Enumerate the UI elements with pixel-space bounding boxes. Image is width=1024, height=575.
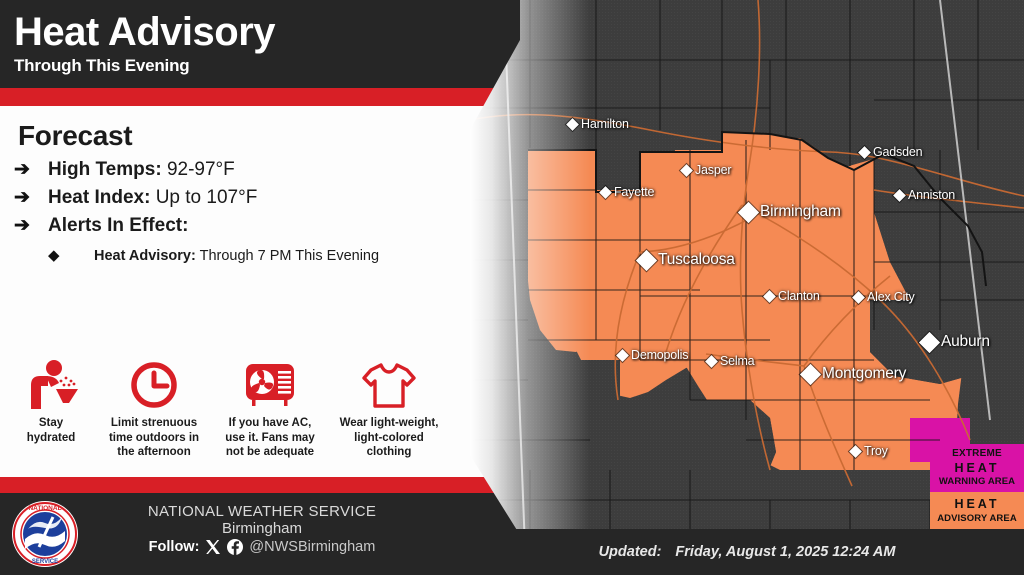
legend-line2: HEAT xyxy=(933,496,1021,512)
svg-text:SERVICE: SERVICE xyxy=(32,559,58,565)
arrow-icon: ➔ xyxy=(14,160,48,179)
legend-line3: ADVISORY AREA xyxy=(933,513,1021,524)
follow-label: Follow: xyxy=(149,539,200,555)
tip-caption: Limit strenuoustime outdoors inthe after… xyxy=(98,416,210,460)
forecast-value: Up to 107°F xyxy=(156,187,258,208)
twitter-x-icon[interactable] xyxy=(205,539,221,555)
facebook-icon[interactable] xyxy=(227,539,243,555)
weather-graphic: HamiltonJasperFayetteGadsdenAnnistonBirm… xyxy=(0,0,1024,575)
map-panel: HamiltonJasperFayetteGadsdenAnnistonBirm… xyxy=(470,0,1024,575)
legend-line3: WARNING AREA xyxy=(933,476,1021,487)
forecast-row-heat-index: ➔ Heat Index: Up to 107°F xyxy=(0,184,520,212)
alert-value: Through 7 PM This Evening xyxy=(200,248,379,264)
tip-stay-hydrated: Stayhydrated xyxy=(8,354,94,460)
forecast-value: 92-97°F xyxy=(167,159,235,180)
forecast-panel: Forecast ➔ High Temps: 92-97°F ➔ Heat In… xyxy=(0,106,520,477)
safety-tips: Stayhydrated Limit strenuoustime outdoor… xyxy=(0,354,500,460)
arrow-icon: ➔ xyxy=(14,216,48,235)
forecast-label: High Temps: xyxy=(48,159,162,180)
forecast-heading: Forecast xyxy=(0,106,520,156)
clock-icon xyxy=(98,354,210,416)
map-legend: EXTREME HEAT WARNING AREA HEAT ADVISORY … xyxy=(930,444,1024,529)
forecast-label: Heat Index: xyxy=(48,187,150,208)
agency-name: NATIONAL WEATHER SERVICE xyxy=(92,503,432,520)
footer-meta: NATIONAL WEATHER SERVICE Birmingham Foll… xyxy=(92,503,432,555)
tip-caption: Stayhydrated xyxy=(8,416,94,445)
tip-limit-outdoor-time: Limit strenuoustime outdoors inthe after… xyxy=(98,354,210,460)
left-panel: Heat Advisory Through This Evening Forec… xyxy=(0,0,520,575)
noaa-nws-logo: NATIONAL SERVICE xyxy=(12,501,78,567)
alert-item-heat-advisory: ◆ Heat Advisory: Through 7 PM This Eveni… xyxy=(0,240,520,264)
legend-extreme-heat-warning: EXTREME HEAT WARNING AREA xyxy=(930,444,1024,492)
tip-use-ac: If you have AC,use it. Fans maynot be ad… xyxy=(214,354,326,460)
forecast-label: Alerts In Effect: xyxy=(48,215,188,236)
tip-light-clothing: Wear light-weight,light-coloredclothing xyxy=(330,354,448,460)
tshirt-icon xyxy=(330,354,448,416)
social-handle: @NWSBirmingham xyxy=(249,539,375,555)
svg-text:NATIONAL: NATIONAL xyxy=(28,505,61,512)
legend-line1: EXTREME xyxy=(933,448,1021,460)
accent-stripe-top xyxy=(0,88,520,106)
legend-heat-advisory: HEAT ADVISORY AREA xyxy=(930,492,1024,529)
drinking-water-icon xyxy=(8,354,94,416)
tip-caption: If you have AC,use it. Fans maynot be ad… xyxy=(214,416,326,460)
page-title: Heat Advisory xyxy=(0,0,520,52)
accent-stripe-bottom xyxy=(0,477,520,493)
social-row: Follow: @NWSBirmingham xyxy=(92,539,432,555)
air-conditioner-icon xyxy=(214,354,326,416)
header: Heat Advisory Through This Evening xyxy=(0,0,520,88)
forecast-row-alerts: ➔ Alerts In Effect: xyxy=(0,212,520,240)
forecast-row-high-temps: ➔ High Temps: 92-97°F xyxy=(0,156,520,184)
arrow-icon: ➔ xyxy=(14,188,48,207)
updated-value: Friday, August 1, 2025 12:24 AM xyxy=(675,544,895,560)
alert-label: Heat Advisory: xyxy=(94,248,196,264)
tip-caption: Wear light-weight,light-coloredclothing xyxy=(330,416,448,460)
office-name: Birmingham xyxy=(92,520,432,537)
legend-line2: HEAT xyxy=(933,460,1021,476)
diamond-bullet-icon: ◆ xyxy=(48,248,94,263)
updated-bar: Updated: Friday, August 1, 2025 12:24 AM xyxy=(470,529,1024,575)
footer: NATIONAL SERVICE NATIONAL WEATHER SERVIC… xyxy=(0,493,520,575)
page-subtitle: Through This Evening xyxy=(0,52,520,76)
updated-label: Updated: xyxy=(599,544,662,560)
